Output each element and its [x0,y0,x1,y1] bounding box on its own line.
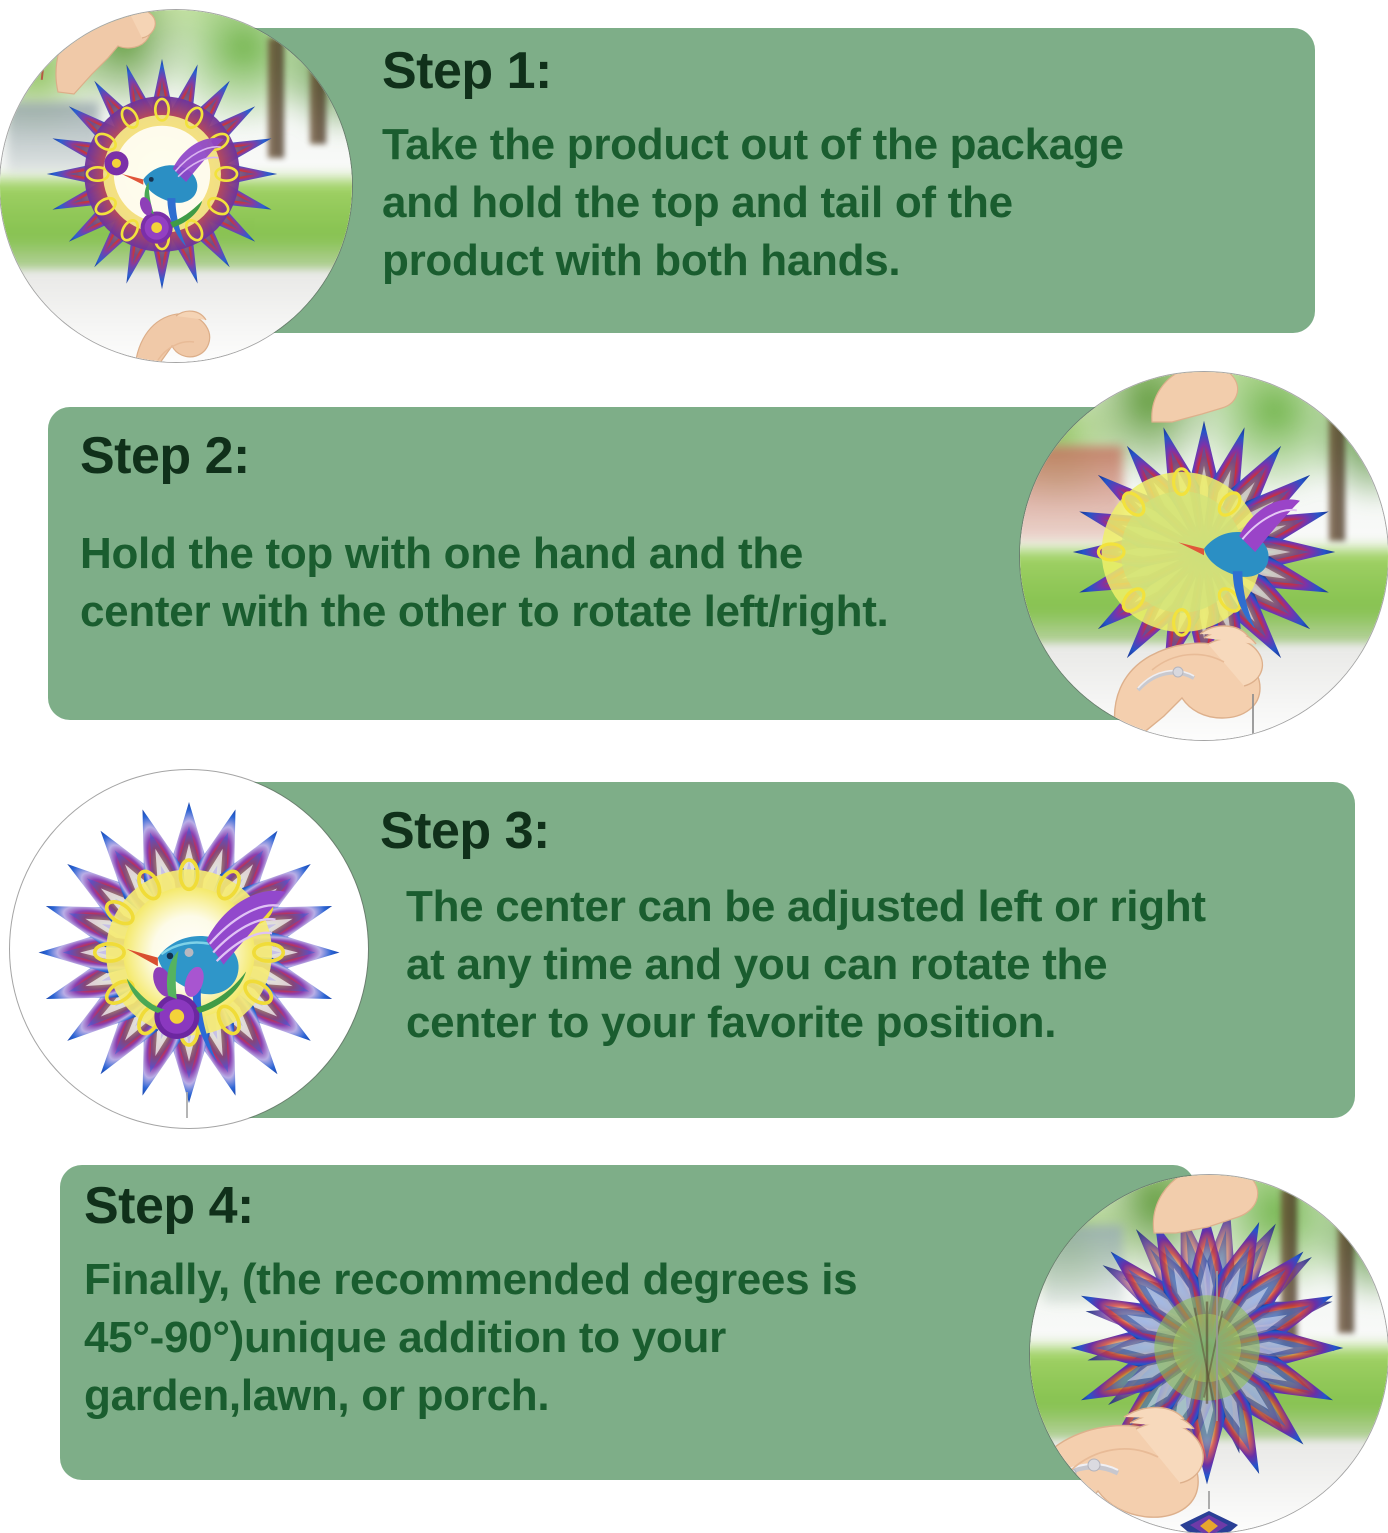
step-2-text-block: Step 2: Hold the top with one hand and t… [80,430,1040,641]
step-2-photo [1020,372,1388,740]
step-1-title: Step 1: [382,45,1282,98]
step-1-body-line-2: and hold the top and tail of the [382,174,1282,232]
step-1-body: Take the product out of the package and … [382,116,1282,290]
instruction-graphic: Step 1: Take the product out of the pack… [0,0,1388,1500]
step-2-title: Step 2: [80,430,1040,483]
step-4-body-line-2: 45°-90°)unique addition to your [84,1309,1044,1367]
step-2-body-line-2: center with the other to rotate left/rig… [80,583,1040,641]
step-3-body-line-3: center to your favorite position. [406,994,1340,1052]
step-1-bottom-hand [118,294,238,362]
step-3-wind-spinner [16,784,362,1114]
step-4-photo [1030,1175,1388,1533]
step-2-body: Hold the top with one hand and the cente… [80,525,1040,641]
step-4-body: Finally, (the recommended degrees is 45°… [84,1251,1044,1425]
step-2-hanging-string [1252,694,1254,734]
step-1-wind-spinner [28,40,296,308]
step-1-body-line-1: Take the product out of the package [382,116,1282,174]
step-4-body-line-3: garden,lawn, or porch. [84,1367,1044,1425]
step-1-text-block: Step 1: Take the product out of the pack… [382,45,1282,290]
step-3-body: The center can be adjusted left or right… [406,878,1340,1052]
step-4-top-hand [1142,1175,1282,1235]
step-1-photo [0,10,352,362]
step-2-body-line-1: Hold the top with one hand and the [80,525,1040,583]
step-1-body-line-3: product with both hands. [382,232,1282,290]
step-3-hanging-hook [186,1092,188,1118]
step-4-text-block: Step 4: Finally, (the recommended degree… [84,1180,1044,1425]
step-4-title: Step 4: [84,1180,1044,1233]
step-2-top-hand [1142,372,1262,424]
step-3-body-line-2: at any time and you can rotate the [406,936,1340,994]
step-4-body-line-1: Finally, (the recommended degrees is [84,1251,1044,1309]
step-2-rotating-hand [1108,522,1338,737]
step-3-body-line-1: The center can be adjusted left or right [406,878,1340,936]
step-4-bottom-tail-ornament [1170,1491,1248,1533]
step-3-photo [10,770,368,1128]
step-3-text-block: Step 3: The center can be adjusted left … [380,805,1340,1052]
step-3-title: Step 3: [380,805,1340,858]
